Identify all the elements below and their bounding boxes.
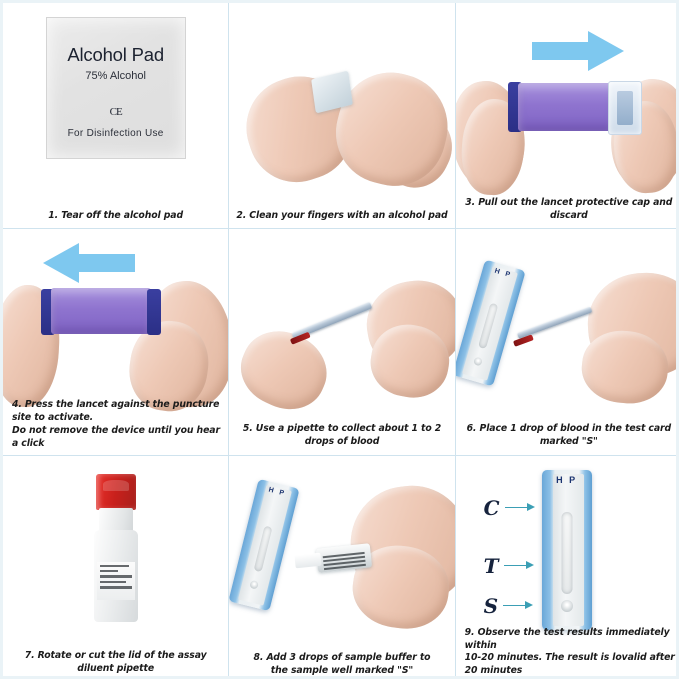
test-cassette: H P [229,478,300,610]
panel-6-illustration: H P [456,229,679,407]
dropper-tip [295,552,322,568]
panel-7-illustration [3,456,228,634]
panel-1-caption: 1. Tear off the alcohol pad [3,210,228,223]
panel-3: 3. Pull out the lancet protective cap an… [456,3,679,229]
panel-8: H P 8. Add 3 drops of sample buffer to t… [229,456,455,679]
instruction-grid: Alcohol Pad 75% Alcohol CE For Disinfect… [3,3,679,679]
lancet-end-cap-right [147,289,161,335]
panel-5: 5. Use a pipette to collect about 1 to 2… [229,229,455,455]
panel-2: 2. Clean your fingers with an alcohol pa… [229,3,455,229]
panel-7: 7. Rotate or cut the lid of the assay di… [3,456,229,679]
sachet-subtitle: 75% Alcohol [47,70,185,82]
panel-9-caption-line-2: 10-20 minutes. The result is lovalid aft… [465,652,675,678]
test-line-marker: T [484,556,534,576]
lancet-device-body [51,288,151,334]
test-line-letter: T [484,556,499,576]
control-line-marker: C [484,498,535,518]
cassette-brand-label: H P [542,475,592,485]
panel-3-caption: 3. Pull out the lancet protective cap an… [456,197,679,223]
bottle-label [97,562,135,600]
left-fingertip [230,319,339,422]
panel-3-illustration [456,3,679,181]
arrow-pointer-icon [503,601,533,610]
sample-well [561,600,573,612]
test-cassette: H P [542,470,592,630]
result-window [561,512,572,594]
panel-1: Alcohol Pad 75% Alcohol CE For Disinfect… [3,3,229,229]
panel-4: 4. Press the lancet against the puncture… [3,229,229,455]
pipette [517,307,592,339]
control-line-letter: C [484,498,500,518]
panel-2-illustration [229,3,454,181]
panel-8-illustration: H P [229,456,454,634]
lancet-protective-cap [608,81,642,135]
panel-5-illustration [229,229,454,407]
sachet-title: Alcohol Pad [47,44,185,66]
panel-4-illustration [3,229,228,407]
panel-7-caption: 7. Rotate or cut the lid of the assay di… [3,650,228,676]
panel-9: H P C T S 9. Observe the test [456,456,679,679]
arrow-pointer-icon [504,561,534,570]
ce-mark-icon: CE [47,106,185,118]
panel-6-caption: 6. Place 1 drop of blood in the test car… [456,423,679,449]
alcohol-pad-sachet: Alcohol Pad 75% Alcohol CE For Disinfect… [46,17,186,159]
sample-well-letter: S [484,596,498,616]
panel-9-caption-line-1: 9. Observe the test results immediately … [465,627,675,653]
instruction-sheet: Alcohol Pad 75% Alcohol CE For Disinfect… [0,0,679,679]
panel-4-caption: 4. Press the lancet against the puncture… [3,399,228,450]
arrow-left-icon [43,243,135,283]
panel-2-caption: 2. Clean your fingers with an alcohol pa… [229,210,454,223]
panel-9-illustration: H P C T S [456,456,679,634]
panel-5-caption: 5. Use a pipette to collect about 1 to 2… [229,423,454,449]
panel-6: H P 6. Place 1 drop of blood in the test… [456,229,679,455]
arrow-right-icon [532,31,624,71]
arrow-pointer-icon [505,503,535,512]
panel-1-illustration: Alcohol Pad 75% Alcohol CE For Disinfect… [3,3,228,181]
panel-8-caption-line-2: the sample well marked "S" [236,665,447,678]
panel-8-caption: 8. Add 3 drops of sample buffer to the s… [229,652,454,678]
bottle-cap [96,474,136,510]
test-cassette: H P [456,260,526,387]
panel-4-caption-line-1: 4. Press the lancet against the puncture… [12,399,221,425]
lancet-device-body [518,83,614,131]
sample-well-marker: S [484,596,533,616]
blood-drop [513,335,534,347]
sachet-footer: For Disinfection Use [47,128,185,139]
panel-4-caption-line-2: Do not remove the device until you hear … [12,425,221,451]
dropper-graduations [323,549,366,565]
panel-8-caption-line-1: 8. Add 3 drops of sample buffer to [236,652,447,665]
assay-diluent-bottle [92,474,140,622]
panel-9-caption: 9. Observe the test results immediately … [456,627,679,678]
